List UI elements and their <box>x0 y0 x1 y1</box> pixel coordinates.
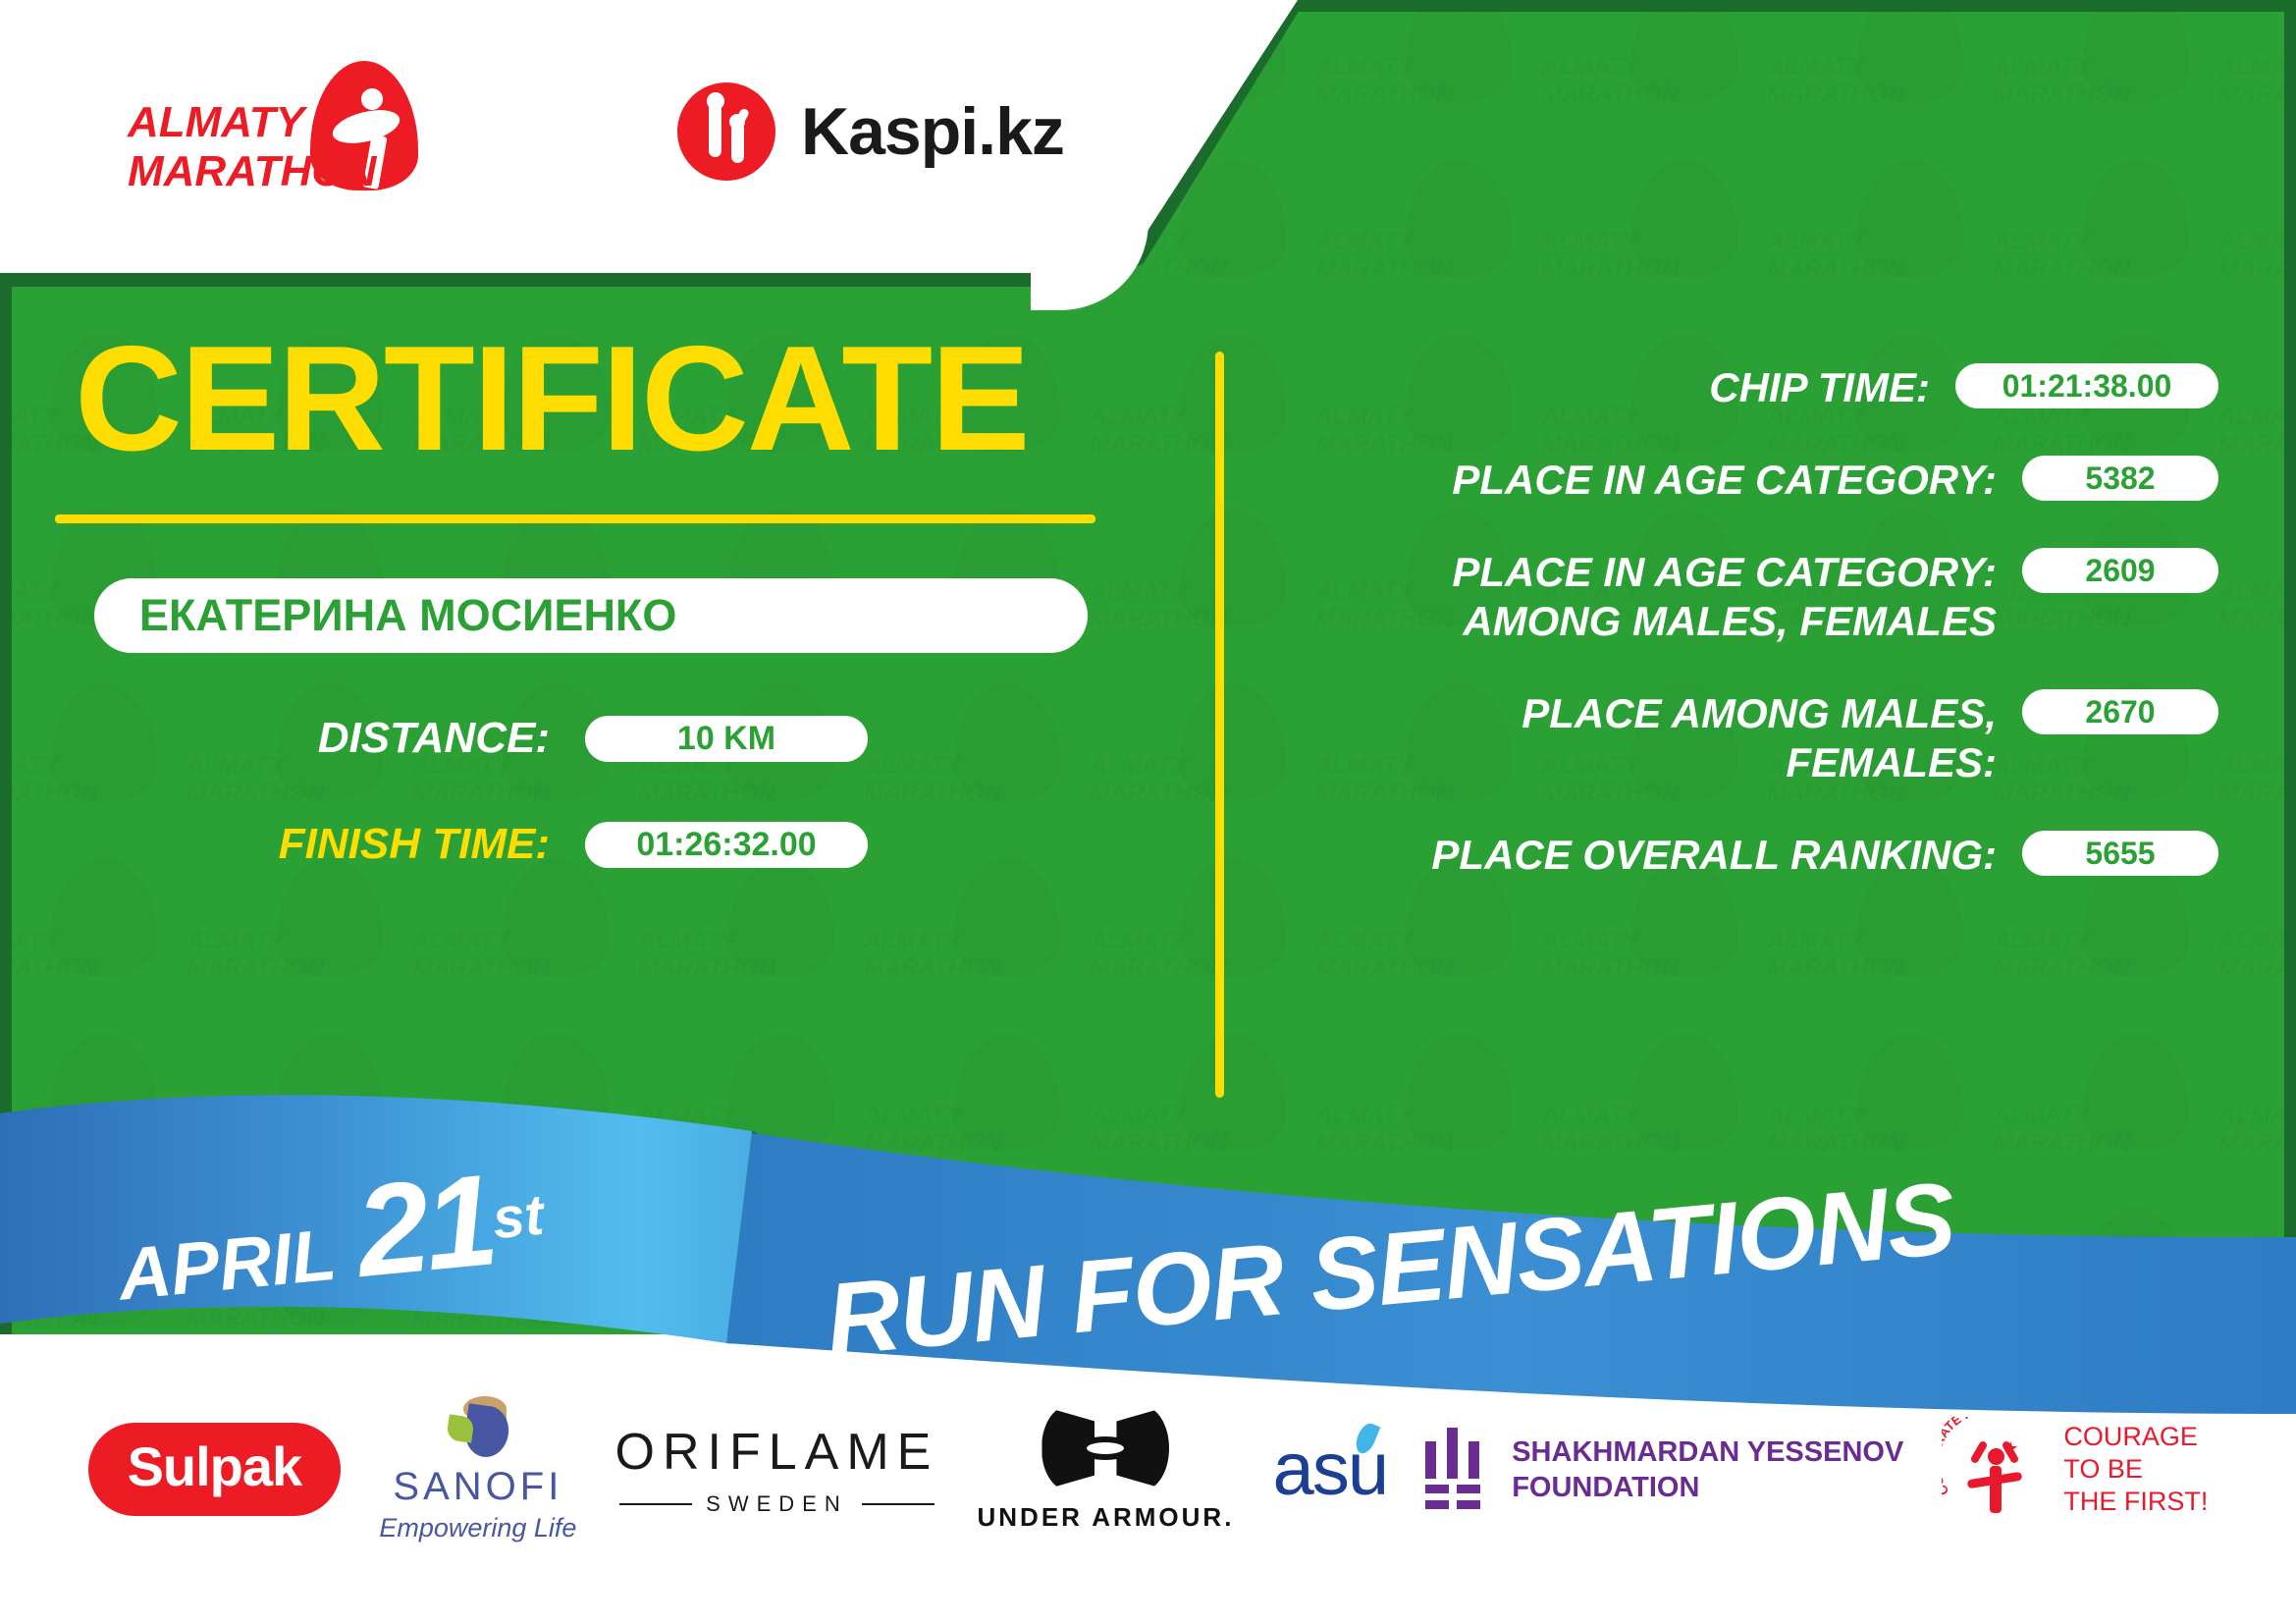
event-day-suffix: st <box>490 1183 547 1252</box>
place-among-gender-label: PLACE AMONG MALES, FEMALES: <box>1276 689 2022 787</box>
finish-time-label: FINISH TIME: <box>0 820 550 869</box>
watermark-runner-icon <box>1631 159 1737 277</box>
sponsor-yessenov-foundation: SHAKHMARDAN YESSENOV FOUNDATION <box>1425 1428 1903 1512</box>
watermark-tile: ALMATY MARATHON <box>1767 155 1993 330</box>
chip-time-label: CHIP TIME: <box>1276 363 1955 412</box>
sanofi-logo-text: SANOFI <box>393 1465 562 1509</box>
watermark-text: ALMATY MARATHON <box>1315 927 1463 982</box>
sponsor-under-armour: UNDER ARMOUR. <box>978 1406 1235 1533</box>
event-ribbon: APRIL21st RUN FOR SENSATIONS <box>0 1090 2296 1414</box>
watermark-text: ALMATY MARATHON <box>412 927 560 982</box>
place-among-gender-value: 2670 <box>2022 689 2218 734</box>
result-row-place-overall: PLACE OVERALL RANKING: 5655 <box>1276 831 2218 880</box>
result-row-place-age-category: PLACE IN AGE CATEGORY: 5382 <box>1276 456 2218 505</box>
finish-time-value: 01:26:32.00 <box>585 822 868 868</box>
place-overall-value: 5655 <box>2022 831 2218 876</box>
watermark-tile: ALMATY MARATHON <box>1541 155 1767 330</box>
certificate-page: ALMATY MARATHONALMATY MARATHONALMATY MAR… <box>0 0 2296 1624</box>
distance-label: DISTANCE: <box>0 714 550 763</box>
watermark-text: ALMATY MARATHON <box>1541 228 1688 283</box>
oriflame-tagline-row: SWEDEN <box>619 1491 934 1517</box>
watermark-runner-icon <box>1631 0 1737 102</box>
kaspi-logo-text: Kaspi.kz <box>801 93 1064 170</box>
sponsor-sanofi: SANOFI Empowering Life <box>379 1396 576 1543</box>
watermark-runner-icon <box>1857 0 1963 102</box>
watermark-runner-icon <box>954 858 1060 976</box>
watermark-runner-icon <box>277 858 383 976</box>
asu-logo-text: asu <box>1273 1427 1388 1512</box>
distance-value: 10 KM <box>585 716 868 762</box>
sulpak-logo-text: Sulpak <box>88 1423 342 1516</box>
watermark-text: ALMATY MARATHON <box>1767 228 1914 283</box>
watermark-runner-icon <box>2083 0 2189 102</box>
yessenov-mark-icon <box>1425 1428 1486 1512</box>
watermark-tile: ALMATY MARATHON <box>412 854 638 1029</box>
kaspi-figures-icon <box>677 82 775 181</box>
watermark-tile: ALMATY MARATHON <box>638 854 864 1029</box>
oriflame-rule-right <box>862 1503 934 1505</box>
watermark-text: ALMATY MARATHON <box>638 927 785 982</box>
sanofi-tagline: Empowering Life <box>379 1513 576 1543</box>
event-month: APRIL <box>115 1214 340 1316</box>
watermark-runner-icon <box>503 858 609 976</box>
column-divider <box>1215 352 1224 1098</box>
place-overall-label: PLACE OVERALL RANKING: <box>1276 831 2022 880</box>
place-age-category-label: PLACE IN AGE CATEGORY: <box>1276 456 2022 505</box>
watermark-runner-icon <box>1406 0 1512 102</box>
watermark-tile: ALMATY MARATHON <box>1993 0 2218 155</box>
certificate-left-column: CERTIFICATE ЕКАТЕРИНА МОСИЕНКО DISTANCE:… <box>0 324 1207 869</box>
result-row-place-among-gender: PLACE AMONG MALES, FEMALES: 2670 <box>1276 689 2218 787</box>
watermark-tile: ALMATY MARATHON <box>187 854 412 1029</box>
watermark-runner-icon <box>51 858 157 976</box>
oriflame-rule-left <box>619 1503 692 1505</box>
almaty-marathon-logo: ALMATY MARATHON <box>128 61 461 208</box>
place-age-category-gender-label: PLACE IN AGE CATEGORY: AMONG MALES, FEMA… <box>1276 548 2022 646</box>
watermark-runner-icon <box>2083 159 2189 277</box>
watermark-text: ALMATY MARATHON <box>1541 53 1688 108</box>
almaty-marathon-logo-text: ALMATY MARATHON <box>128 98 376 196</box>
under-armour-logo-text: UNDER ARMOUR. <box>978 1502 1235 1533</box>
watermark-text: ALMATY MARATHON <box>1315 228 1463 283</box>
watermark-text: ALMATY MARATHON <box>1315 53 1463 108</box>
corporate-fund-logo-text: COURAGE TO BE THE FIRST! <box>2063 1421 2208 1518</box>
header-corner-curve <box>1031 192 1148 310</box>
watermark-runner-icon <box>1406 159 1512 277</box>
sponsor-asu: asu <box>1273 1427 1388 1512</box>
watermark-text: ALMATY MARATHON <box>0 927 108 982</box>
watermark-runner-icon <box>728 858 834 976</box>
result-row-chip-time: CHIP TIME: 01:21:38.00 <box>1276 363 2218 412</box>
result-row-place-age-category-gender: PLACE IN AGE CATEGORY: AMONG MALES, FEMA… <box>1276 548 2218 646</box>
sponsor-oriflame: ORIFLAME SWEDEN <box>615 1423 939 1517</box>
watermark-text: ALMATY MARATHON <box>1993 53 2140 108</box>
under-armour-mark-icon <box>1041 1406 1169 1490</box>
watermark-tile: ALMATY MARATHON <box>0 854 187 1029</box>
watermark-tile: ALMATY MARATHON <box>1315 155 1541 330</box>
chip-time-value: 01:21:38.00 <box>1955 363 2218 408</box>
distance-row: DISTANCE: 10 KM <box>0 714 1207 763</box>
participant-name-value: ЕКАТЕРИНА МОСИЕНКО <box>139 590 676 641</box>
watermark-tile: ALMATY MARATHON <box>1315 0 1541 155</box>
watermark-runner-icon <box>1180 858 1286 976</box>
participant-name-field: ЕКАТЕРИНА МОСИЕНКО <box>94 578 1088 653</box>
watermark-tile: ALMATY MARATHON <box>1767 0 1993 155</box>
place-age-category-gender-value: 2609 <box>2022 548 2218 593</box>
sponsor-sulpak: Sulpak <box>88 1423 342 1516</box>
watermark-tile: ALMATY MARATHON <box>864 854 1090 1029</box>
watermark-text: ALMATY MARATHON <box>1541 927 1688 982</box>
title-divider <box>55 514 1095 523</box>
watermark-runner-icon <box>1857 159 1963 277</box>
event-day: 21 <box>350 1147 500 1304</box>
page-title: CERTIFICATE <box>75 324 1207 473</box>
oriflame-tagline: SWEDEN <box>706 1491 848 1517</box>
place-age-category-value: 5382 <box>2022 456 2218 501</box>
corporate-fund-figure-icon: ★ <box>1975 1438 2014 1513</box>
watermark-text: ALMATY MARATHON <box>864 927 1011 982</box>
kaspi-logo: Kaspi.kz <box>677 82 1064 181</box>
results-column: CHIP TIME: 01:21:38.00 PLACE IN AGE CATE… <box>1276 363 2218 923</box>
finish-time-row: FINISH TIME: 01:26:32.00 <box>0 820 1207 869</box>
watermark-text: ALMATY MARATHON <box>187 927 334 982</box>
watermark-text: ALMATY MARATHON <box>1993 927 2140 982</box>
watermark-tile: ALMATY MARATHON <box>1541 0 1767 155</box>
yessenov-logo-text: SHAKHMARDAN YESSENOV FOUNDATION <box>1512 1435 1903 1505</box>
oriflame-logo-text: ORIFLAME <box>615 1423 939 1482</box>
watermark-text: ALMATY MARATHON <box>1993 228 2140 283</box>
watermark-text: ALMATY MARATHON <box>1767 927 1914 982</box>
watermark-tile: ALMATY MARATHON <box>1993 155 2218 330</box>
sponsor-corporate-fund: CORPORATE FUND ★ COURAGE TO BE THE FIRST… <box>1942 1417 2208 1523</box>
watermark-text: ALMATY MARATHON <box>1767 53 1914 108</box>
corporate-fund-mark-icon: CORPORATE FUND ★ <box>1942 1417 2046 1523</box>
